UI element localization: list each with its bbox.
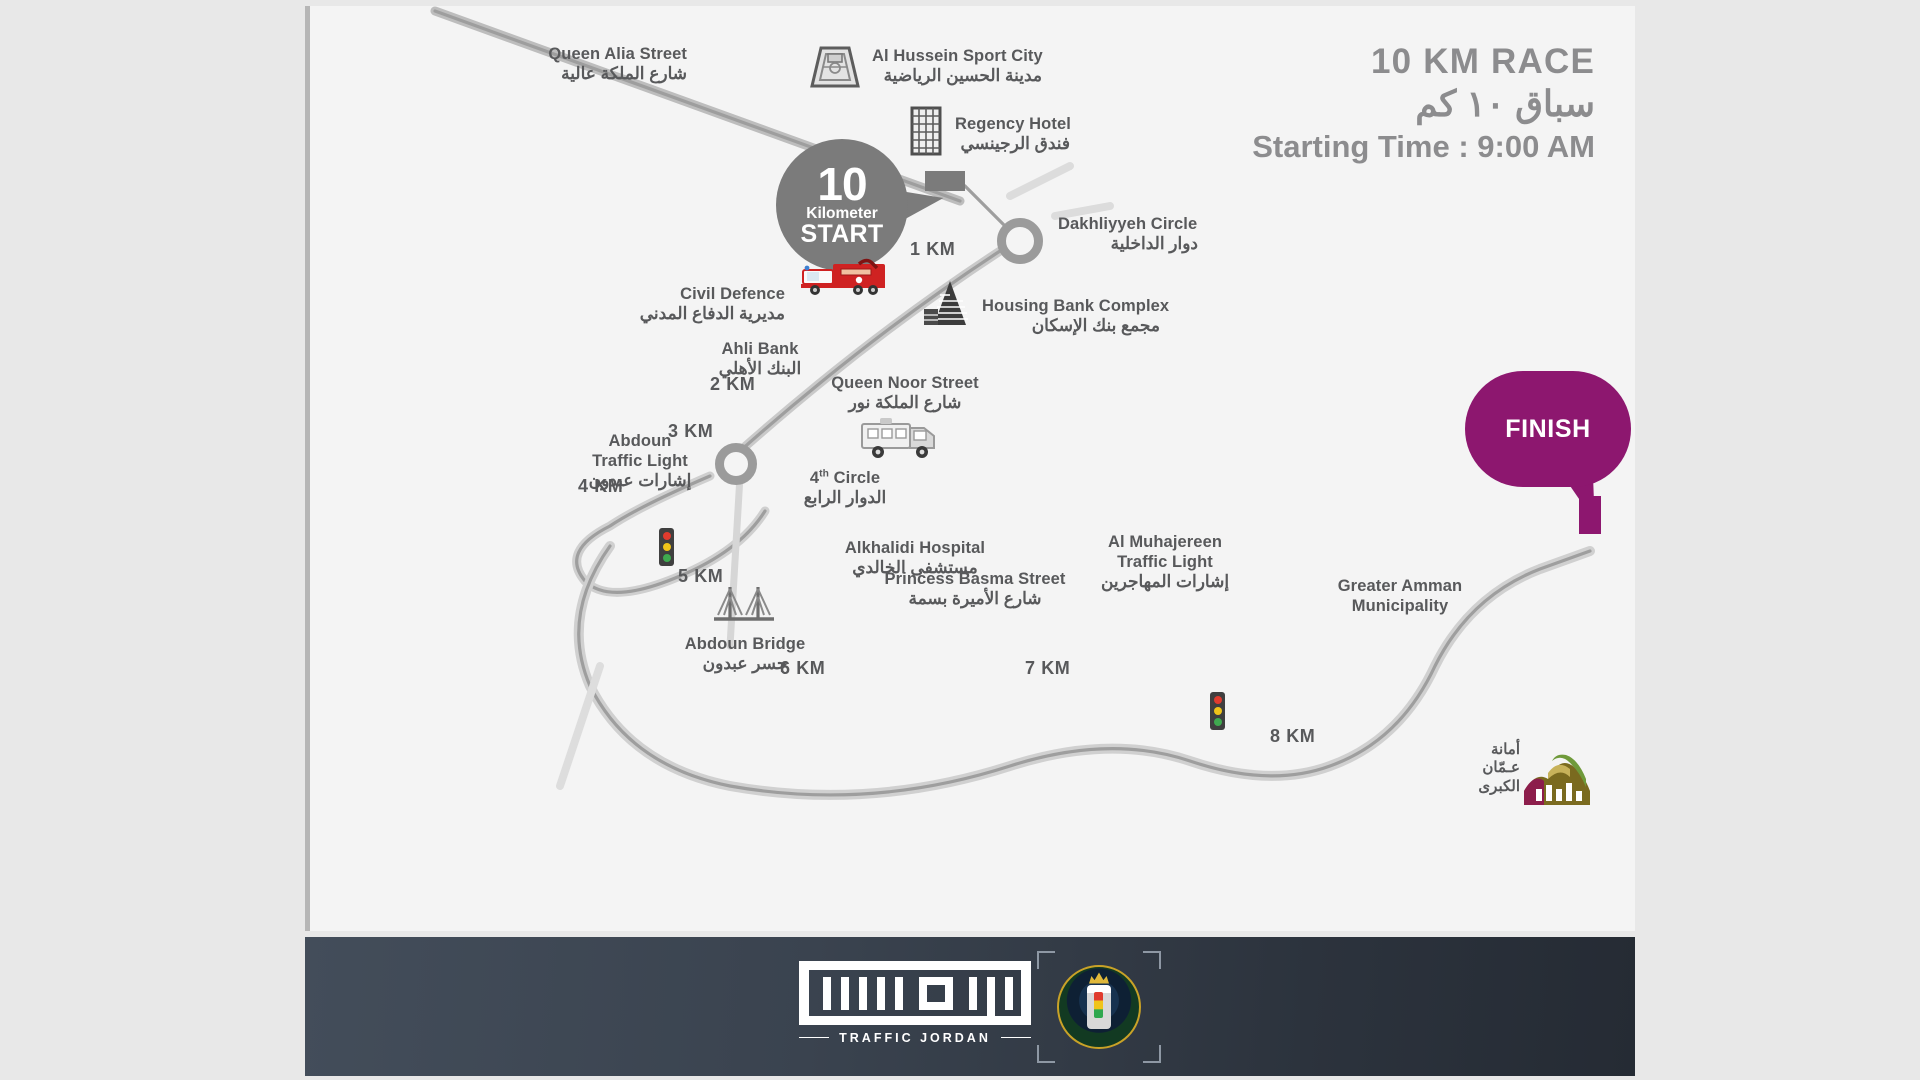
dakhliyyeh-roundabout-icon [997,218,1043,264]
km-marker-3: 3 KM [668,421,713,442]
amanat-ar1: أمانة [1440,741,1520,759]
sabeel-ar2: الحوريات [1610,717,1635,738]
fourth-circle-ar: الدوار الرابع [765,488,925,509]
abdoun-traffic-light-en2: Traffic Light [550,451,730,471]
label-greater-amman-municipality: Greater Amman Municipality [1310,576,1490,616]
km-marker-1: 1 KM [910,239,955,260]
label-muhajereen-traffic-light: Al Muhajereen Traffic Light إشارات المها… [1065,532,1265,593]
start-marker: 10 Kilometer START [776,139,908,271]
muhajereen-en2: Traffic Light [1065,552,1265,572]
page-title: 10 KM RACE [1252,44,1595,81]
civil-defence-en: Civil Defence [545,284,785,304]
queen-alia-street-en: Queen Alia Street [465,44,687,64]
race-title-block: 10 KM RACE سباق ١٠ كم Starting Time : 9:… [1252,44,1595,167]
regency-hotel-en: Regency Hotel [955,114,1071,134]
hotel-building-icon [910,106,942,156]
housing-bank-icon [920,279,974,327]
abdoun-traffic-light-icon [659,528,674,566]
footer-bar: TRAFFIC JORDAN [305,937,1635,1076]
amanat-ar2: عـمّان [1440,759,1520,777]
stadium-icon [808,44,862,92]
wordmark-rule-right [1001,1037,1031,1039]
course-map: 10 Kilometer START FINISH 10 KM RACE سبا… [305,6,1635,931]
abdoun-bridge-en: Abdoun Bridge [650,634,840,654]
public-security-directorate-emblem [1057,965,1141,1049]
page-title-ar: سباق ١٠ كم [1252,81,1595,126]
muhajereen-traffic-light-icon [1210,692,1225,730]
km-marker-4: 4 KM [578,476,623,497]
traffic-jordan-kufic-mark [799,961,1031,1025]
fire-truck-icon [797,256,889,298]
queen-noor-street-ar: شارع الملكة نور [805,393,1005,414]
fourth-circle-en: 4th Circle [765,468,925,488]
queen-noor-street-en: Queen Noor Street [805,373,1005,393]
housing-bank-ar: مجمع بنك الإسكان [982,316,1160,337]
traffic-jordan-wordmark: TRAFFIC JORDAN [799,1031,1031,1045]
label-housing-bank: Housing Bank Complex مجمع بنك الإسكان [982,296,1169,337]
label-al-hussein-sport-city: Al Hussein Sport City مدينة الحسين الريا… [872,46,1043,87]
label-civil-defence: Civil Defence مديرية الدفاع المدني [545,284,785,325]
muhajereen-ar: إشارات المهاجرين [1065,572,1265,593]
alkhalidi-hospital-en: Alkhalidi Hospital [815,538,1015,558]
label-queen-noor-street: Queen Noor Street شارع الملكة نور [805,373,1005,414]
greater-amman-municipality-logo [1522,745,1592,807]
km-marker-5: 5 KM [678,566,723,587]
label-amanat-amman-ar: أمانة عـمّان الكبرى [1440,741,1520,796]
finish-label: FINISH [1505,415,1591,444]
finish-flag-icon [1579,496,1601,534]
queen-alia-street-ar: شارع الملكة عالية [465,64,687,85]
label-regency-hotel: Regency Hotel فندق الرجينسي [955,114,1071,155]
km-marker-2: 2 KM [710,374,755,395]
label-dakhliyyeh-circle: Dakhliyyeh Circle دوار الداخلية [1058,214,1198,255]
traffic-jordan-logo: TRAFFIC JORDAN [799,961,1031,1053]
ahli-bank-en: Ahli Bank [680,339,840,359]
start-flag-icon [925,171,965,191]
bridge-icon [710,581,778,623]
finish-marker: FINISH [1465,371,1631,487]
al-hussein-sport-ar: مدينة الحسين الرياضية [872,66,1042,87]
start-word: START [801,222,884,247]
muhajereen-en1: Al Muhajereen [1065,532,1265,552]
emblem-corner-brackets [1037,951,1161,1063]
dakhliyyeh-circle-ar: دوار الداخلية [1058,234,1198,255]
ambulance-icon [858,414,940,462]
sabeel-ar1: معلم سبيل [1610,696,1635,717]
regency-hotel-ar: فندق الرجينسي [955,134,1070,155]
km-marker-8: 8 KM [1270,726,1315,747]
start-time-text: Starting Time : 9:00 AM [1252,128,1595,167]
al-hussein-sport-en: Al Hussein Sport City [872,46,1043,66]
wordmark-rule-left [799,1037,829,1039]
greater-amman-en1: Greater Amman [1310,576,1490,596]
label-sabeel-hurriyat: معلم سبيل الحوريات [1610,696,1635,737]
greater-amman-en2: Municipality [1310,596,1490,616]
civil-defence-ar: مديرية الدفاع المدني [545,304,785,325]
km-marker-7: 7 KM [1025,658,1070,679]
race-course-poster: 10 Kilometer START FINISH 10 KM RACE سبا… [305,6,1635,1076]
label-queen-alia-street: Queen Alia Street شارع الملكة عالية [465,44,687,85]
dakhliyyeh-circle-en: Dakhliyyeh Circle [1058,214,1198,234]
amanat-ar3: الكبرى [1440,778,1520,796]
traffic-jordan-label: TRAFFIC JORDAN [839,1031,991,1045]
housing-bank-en: Housing Bank Complex [982,296,1169,316]
label-fourth-circle: 4th Circle الدوار الرابع [765,468,925,509]
abdoun-traffic-light-ar: إشارات عبدون [550,471,730,492]
start-number: 10 [817,163,866,205]
km-marker-6: 6 KM [780,658,825,679]
